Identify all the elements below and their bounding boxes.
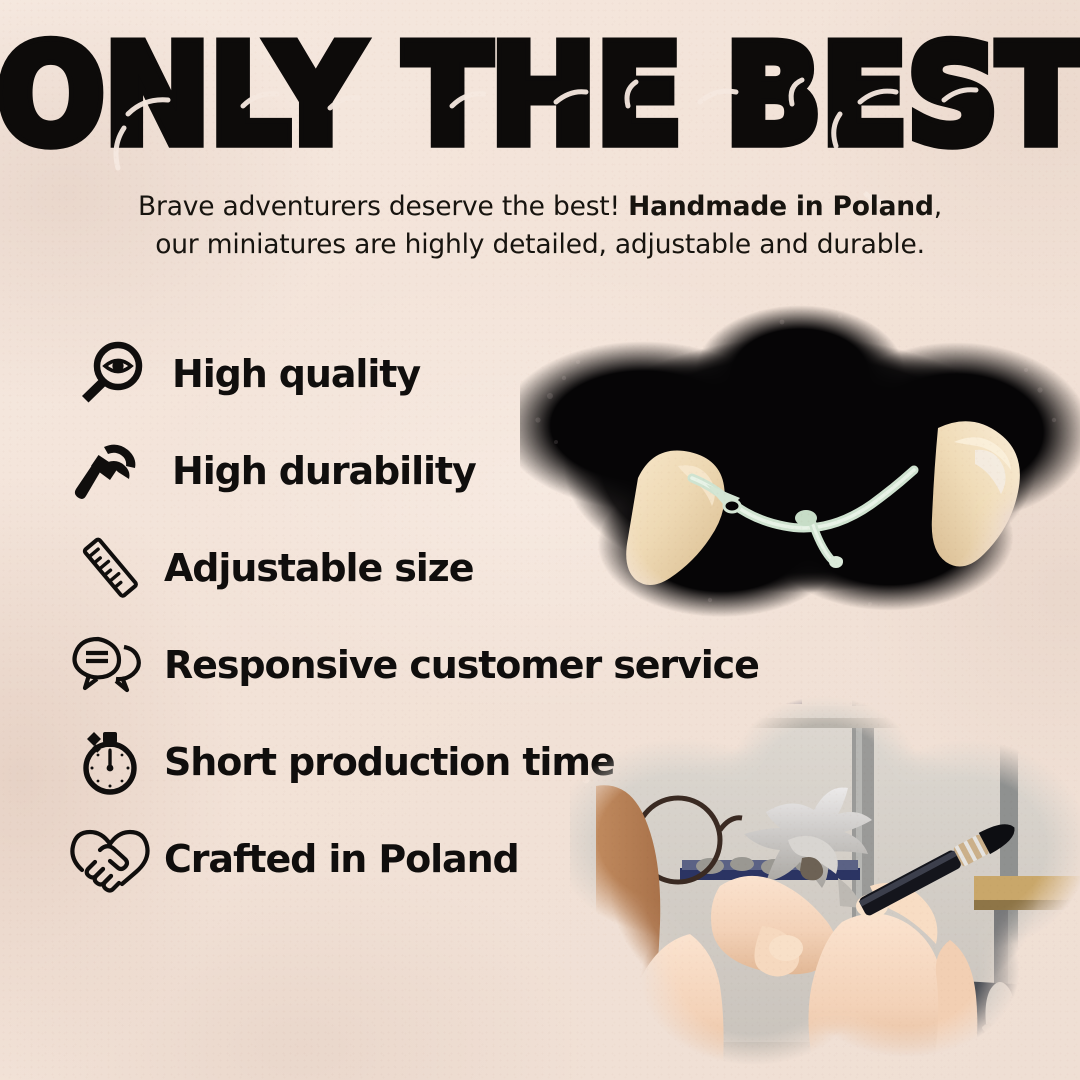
photo-content: 2 <box>570 690 1080 1080</box>
feature-label: Adjustable size <box>164 549 473 587</box>
photo-content <box>520 300 1080 630</box>
feature-label: Responsive customer service <box>164 646 759 684</box>
hammer-icon <box>62 429 158 513</box>
fingernail <box>769 935 803 961</box>
subtitle-highlight: Handmade in Poland <box>628 191 934 222</box>
subtitle-line2: our miniatures are highly detailed, adju… <box>155 229 925 260</box>
feature-label: High quality <box>172 355 420 393</box>
photo-painting-workshop: 2 <box>570 690 1080 1080</box>
subtitle: Brave adventurers deserve the best! Hand… <box>90 188 990 263</box>
stopwatch-icon <box>62 720 158 804</box>
subtitle-line1-after: , <box>934 191 942 222</box>
heart-handshake-icon <box>62 817 158 901</box>
feature-label: High durability <box>172 452 476 490</box>
svg-text:2: 2 <box>726 699 733 714</box>
mint-miniature-part <box>692 470 914 568</box>
magnifier-eye-icon <box>62 332 158 416</box>
feature-label: Short production time <box>164 743 615 781</box>
left-finger <box>626 450 725 585</box>
speech-bubbles-icon <box>62 623 158 707</box>
page-title: ONLY THE BEST <box>0 27 1080 164</box>
ruler-icon <box>62 526 158 610</box>
promo-poster: ONLY THE BEST Brave adventurers deserve … <box>0 0 1080 1080</box>
right-thumb <box>932 421 1020 566</box>
subtitle-line1-before: Brave adventurers deserve the best! <box>138 191 628 222</box>
photo-flexible-miniature <box>520 300 1080 630</box>
feature-label: Crafted in Poland <box>164 840 519 878</box>
